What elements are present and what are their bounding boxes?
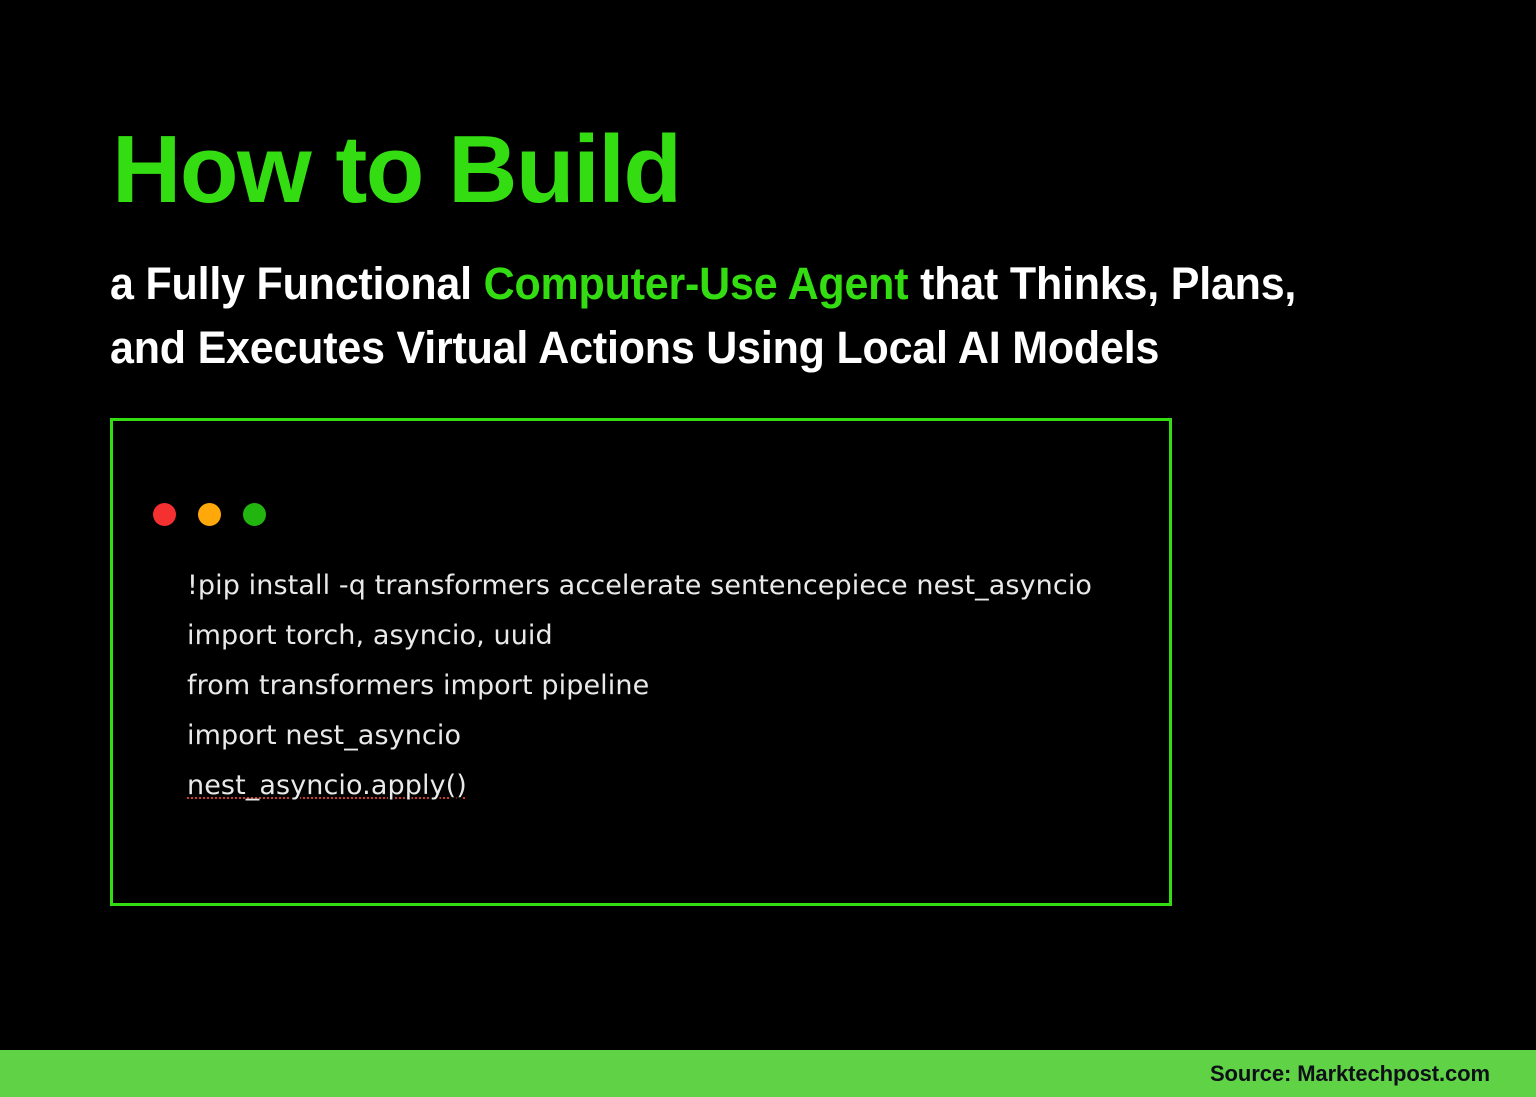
page-title: How to Build (112, 116, 681, 224)
maximize-button-icon[interactable] (243, 503, 266, 526)
code-window-titlebar (153, 503, 266, 526)
code-line: import torch, asyncio, uuid (187, 611, 1159, 661)
code-window: !pip install -q transformers accelerate … (110, 418, 1172, 906)
minimize-button-icon[interactable] (198, 503, 221, 526)
source-attribution: Source: Marktechpost.com (1210, 1061, 1536, 1087)
page-subtitle: a Fully Functional Computer-Use Agent th… (110, 252, 1371, 380)
code-line: nest_asyncio.apply() (187, 761, 1159, 811)
close-button-icon[interactable] (153, 503, 176, 526)
code-block[interactable]: !pip install -q transformers accelerate … (187, 561, 1159, 811)
subtitle-accent-phrase: Computer-Use Agent (484, 258, 909, 309)
slide-root: How to Build a Fully Functional Computer… (0, 0, 1536, 1097)
footer-bar: Source: Marktechpost.com (0, 1050, 1536, 1097)
code-line: import nest_asyncio (187, 711, 1159, 761)
subtitle-part-1: a Fully Functional (110, 258, 484, 309)
code-line: !pip install -q transformers accelerate … (187, 561, 1159, 611)
code-line: from transformers import pipeline (187, 661, 1159, 711)
